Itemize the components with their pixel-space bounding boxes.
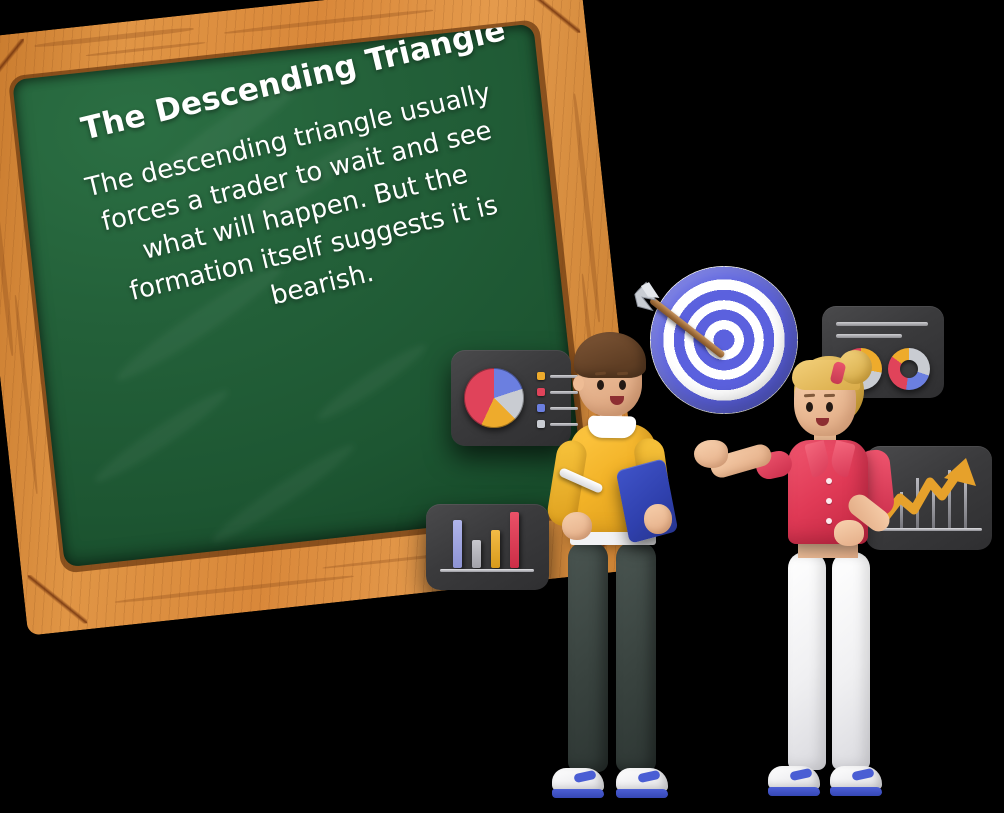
man-legs (568, 542, 658, 772)
man-hair (574, 332, 646, 378)
man-eyebrow-right (617, 372, 628, 376)
pie-chart-icon (464, 368, 524, 428)
illustration-scene: The Descending Triangle The descending t… (0, 0, 1004, 813)
man-presenter (540, 332, 720, 813)
woman-hand-left (694, 440, 728, 468)
man-leg-right (616, 542, 656, 772)
bar-chart-card[interactable] (426, 504, 549, 590)
woman-eye-left (806, 402, 813, 412)
card-line-1 (836, 322, 928, 326)
bar-4 (510, 512, 519, 568)
man-shirt-collar (588, 416, 636, 439)
man-shoe-left (552, 768, 604, 798)
man-eye-left (597, 380, 604, 390)
woman-shoe-left (768, 766, 820, 796)
man-shoe-right (616, 768, 668, 798)
woman-eye-right (826, 402, 833, 412)
woman-presenter (760, 352, 940, 813)
woman-button-1 (826, 478, 832, 484)
bar-3 (491, 530, 500, 568)
chalkboard-surface: The Descending Triangle The descending t… (12, 24, 586, 568)
man-hand-left (562, 512, 592, 540)
frame-corner-bottom-left (28, 570, 88, 630)
bar-1 (453, 520, 462, 568)
woman-leg-left (788, 552, 826, 770)
woman-shoe-right (830, 766, 882, 796)
man-leg-left (568, 542, 608, 772)
bar-chart-axis (440, 569, 534, 572)
bar-2 (472, 540, 481, 568)
woman-button-3 (826, 518, 832, 524)
man-ear (573, 376, 584, 391)
chalkboard-text-block: The Descending Triangle The descending t… (56, 24, 540, 354)
woman-leg-right (832, 552, 870, 770)
woman-hand-right (834, 520, 864, 546)
woman-legs (788, 552, 870, 770)
man-eye-right (619, 380, 626, 390)
woman-button-2 (826, 498, 832, 504)
woman-eyebrow-right (824, 394, 835, 397)
card-line-2 (836, 334, 902, 338)
man-hand-right (644, 504, 672, 534)
